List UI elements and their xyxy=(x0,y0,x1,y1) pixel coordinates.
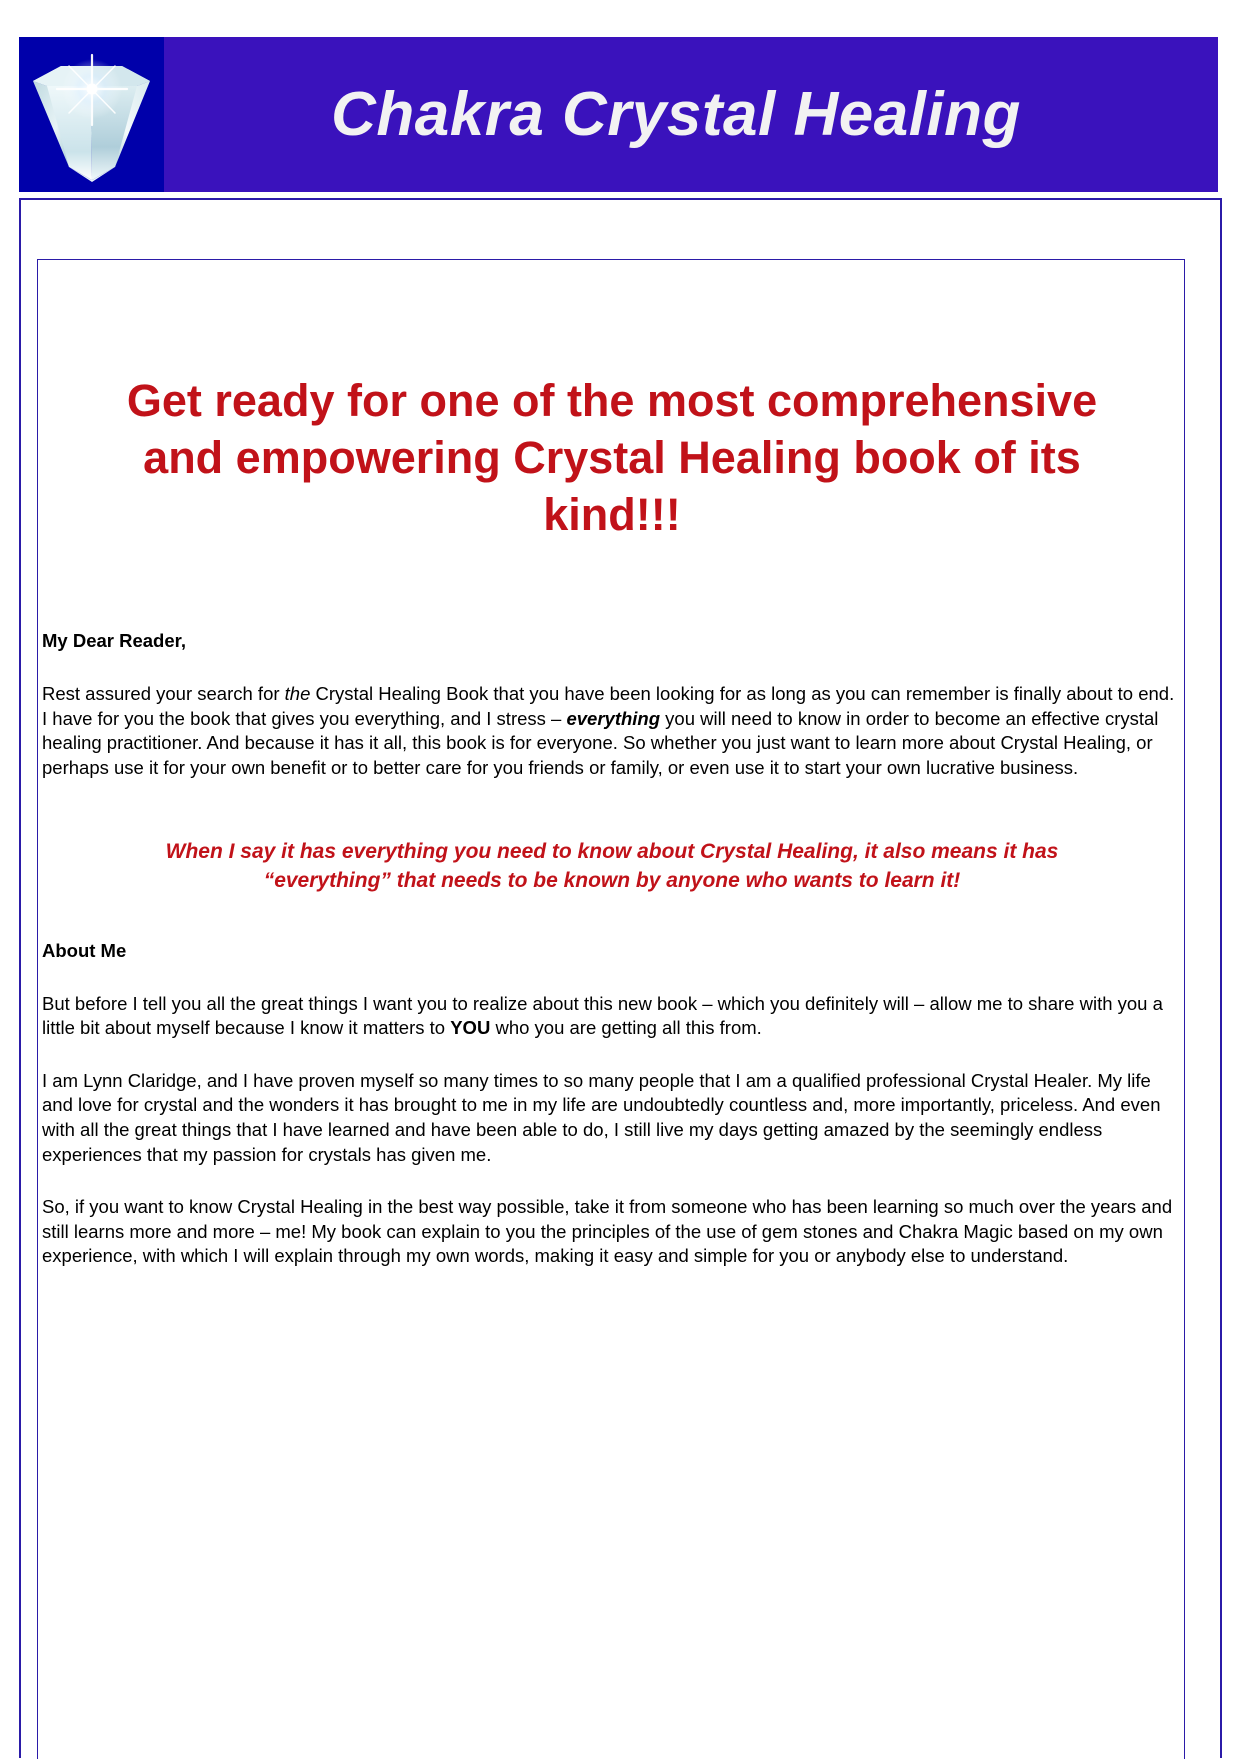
intro-emphasis-the: the xyxy=(285,683,311,704)
site-title: Chakra Crystal Healing xyxy=(164,84,1218,146)
about-me-heading: About Me xyxy=(42,939,1182,964)
page-headline: Get ready for one of the most comprehens… xyxy=(42,260,1182,543)
diamond-gem-icon xyxy=(19,37,164,192)
red-callout: When I say it has everything you need to… xyxy=(42,838,1182,895)
spacer xyxy=(42,780,1182,838)
spacer xyxy=(42,895,1182,939)
about-paragraph-3: So, if you want to know Crystal Healing … xyxy=(42,1195,1182,1269)
page-content-frame: Get ready for one of the most comprehens… xyxy=(37,259,1185,1759)
spacer xyxy=(42,1041,1182,1069)
spacer xyxy=(42,654,1182,682)
intro-emphasis-everything: everything xyxy=(566,708,660,729)
site-banner: Chakra Crystal Healing xyxy=(19,37,1218,192)
about1-emphasis-you: YOU xyxy=(450,1017,490,1038)
logo-container xyxy=(19,37,164,192)
intro-paragraph: Rest assured your search for the Crystal… xyxy=(42,682,1182,780)
spacer xyxy=(42,964,1182,992)
salutation: My Dear Reader, xyxy=(42,629,1182,654)
about-paragraph-1: But before I tell you all the great thin… xyxy=(42,992,1182,1041)
about-paragraph-2: I am Lynn Claridge, and I have proven my… xyxy=(42,1069,1182,1167)
about1-text-part-2: who you are getting all this from. xyxy=(490,1017,761,1038)
sales-letter-body: My Dear Reader, Rest assured your search… xyxy=(42,629,1182,1269)
intro-text-part-1: Rest assured your search for xyxy=(42,683,285,704)
spacer xyxy=(42,1167,1182,1195)
